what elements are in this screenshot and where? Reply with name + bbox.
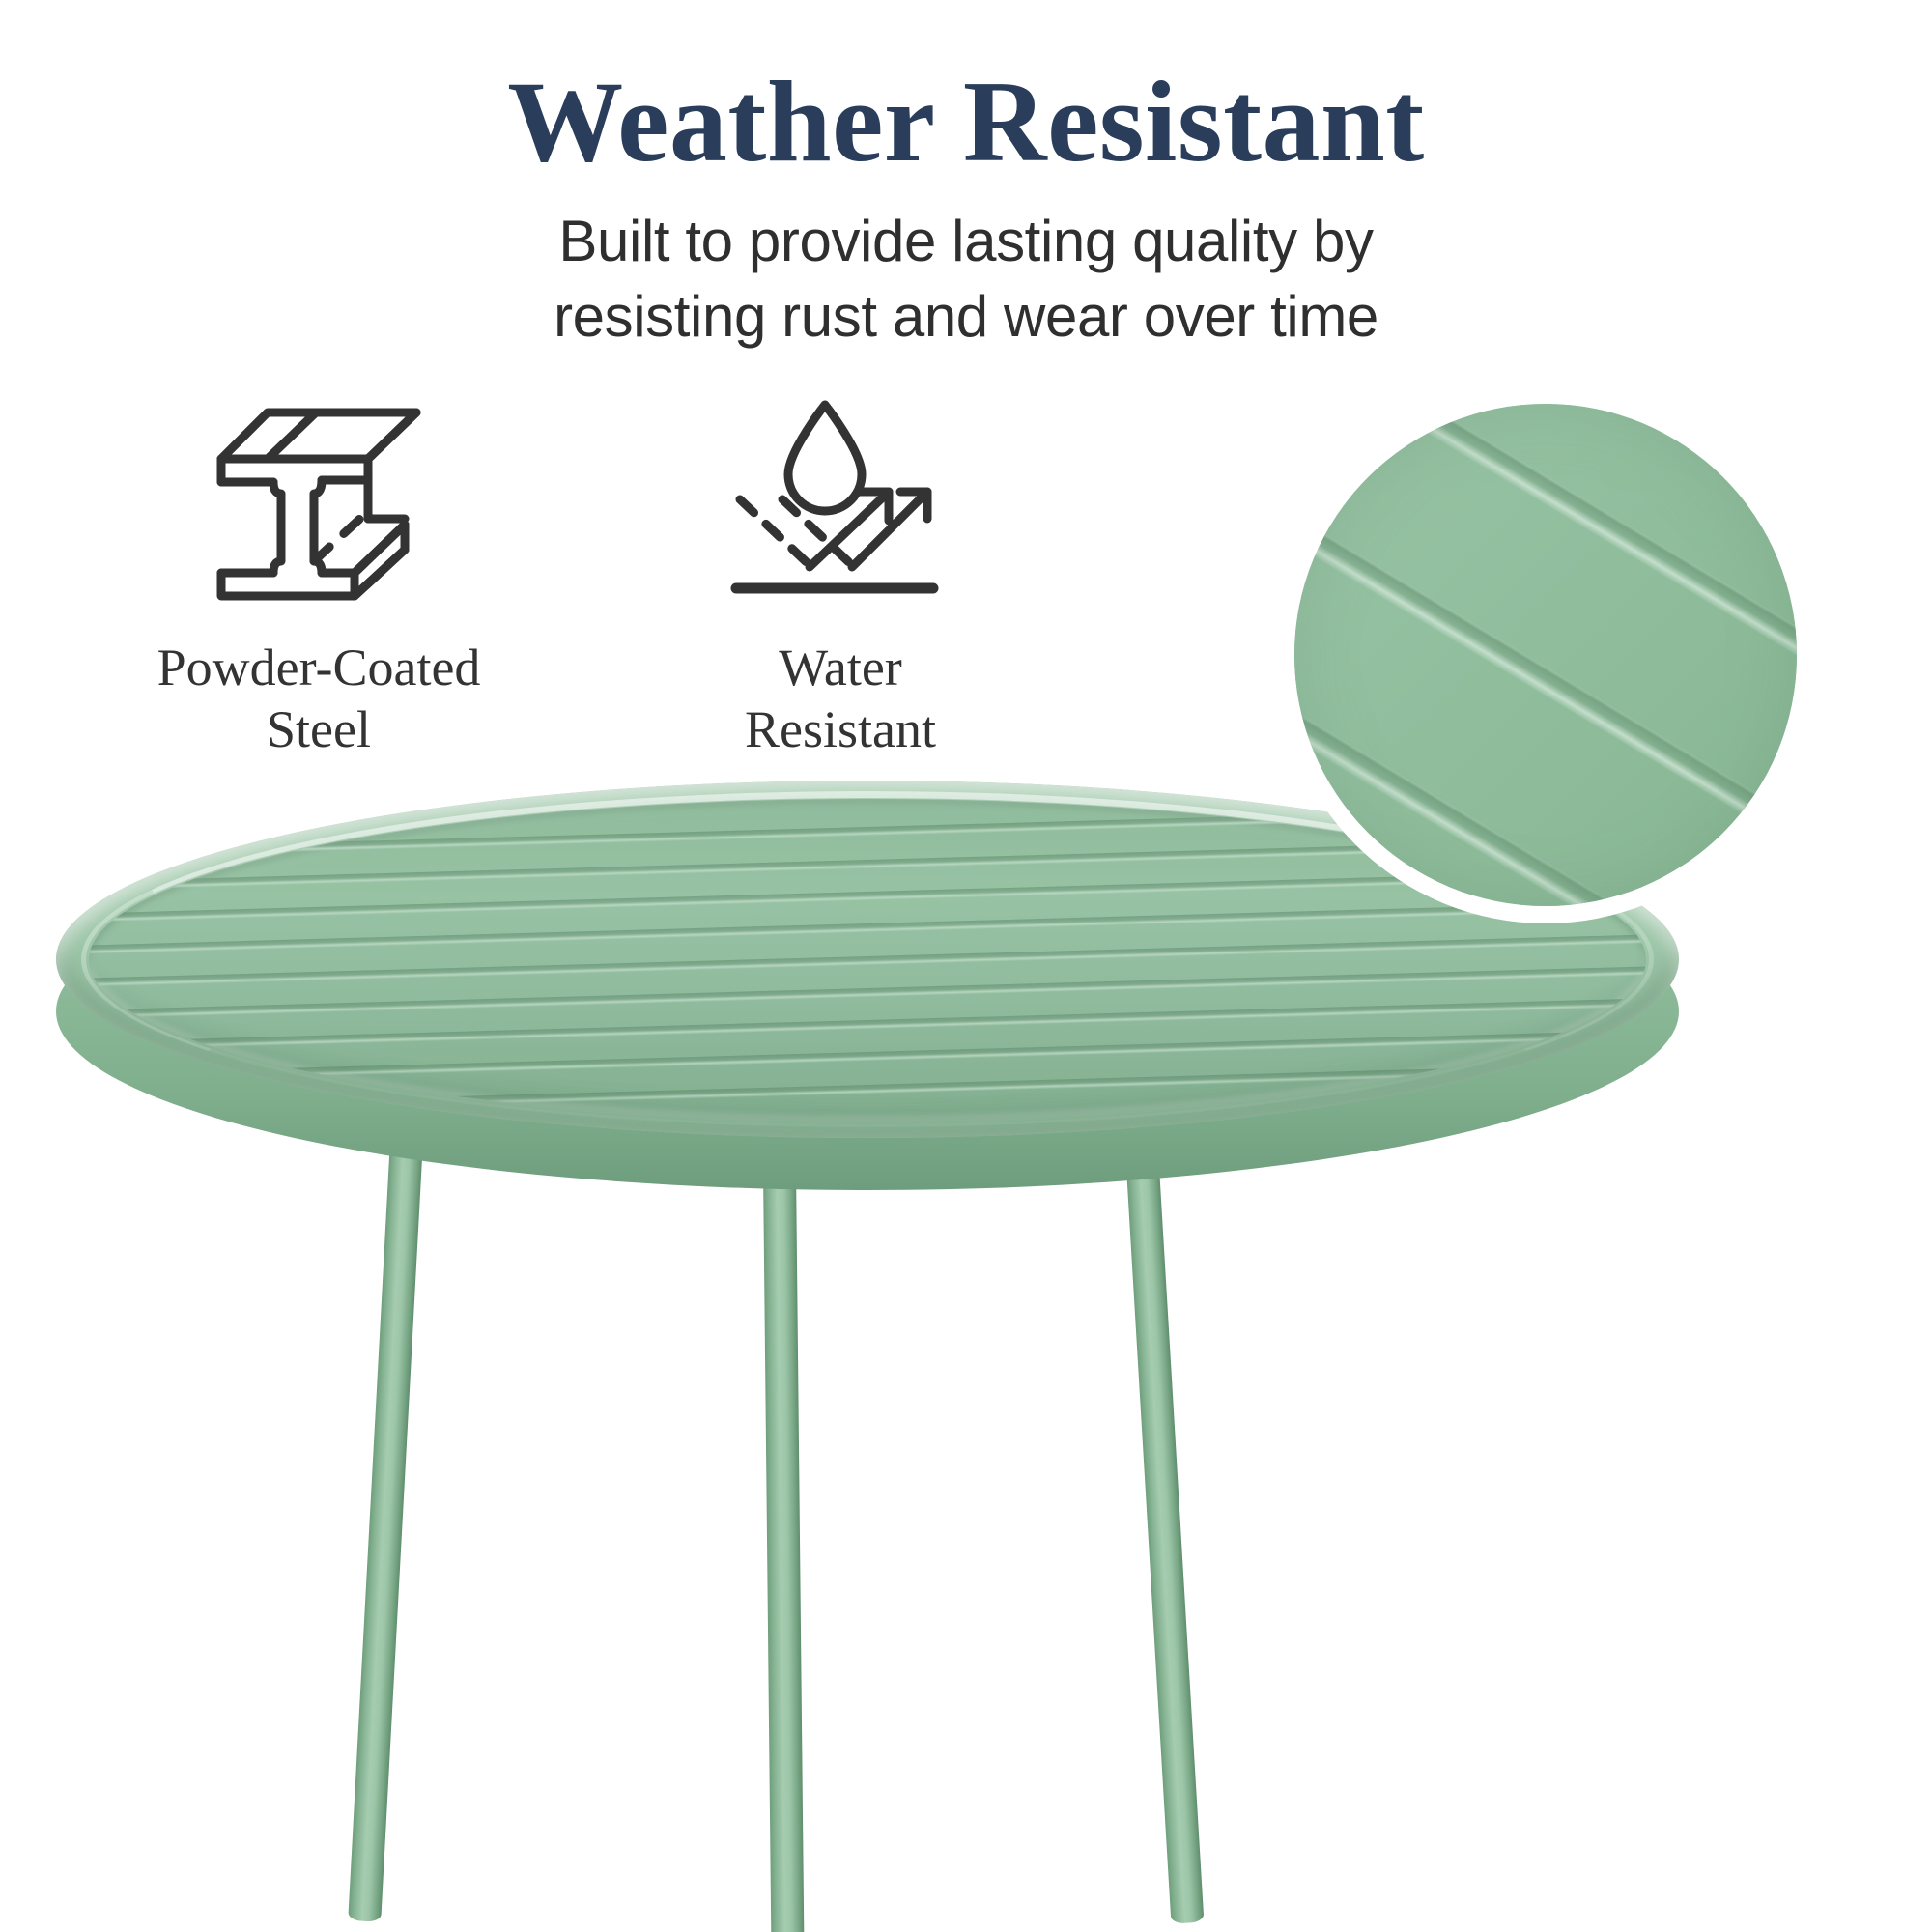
macro-disc (1294, 404, 1797, 906)
table-leg-left (348, 1139, 423, 1922)
feature-label-line-1: Powder-Coated (157, 638, 481, 699)
feature-item-powder-coated-steel: Powder-Coated Steel (58, 386, 580, 760)
water-repellent-icon (728, 386, 952, 618)
feature-list: Powder-Coated Steel (58, 386, 1101, 760)
feature-label-line-1: Water (745, 638, 936, 699)
surface-macro-closeup (1277, 386, 1814, 923)
table-leg-middle (763, 1169, 804, 1932)
i-beam-icon (208, 386, 430, 618)
page-title: Weather Resistant (0, 60, 1932, 183)
feature-item-water-resistant: Water Resistant (580, 386, 1101, 760)
page-subtitle: Built to provide lasting quality by resi… (449, 204, 1483, 355)
subtitle-line-2: resisting rust and wear over time (449, 279, 1483, 355)
header-block: Weather Resistant Built to provide lasti… (0, 60, 1932, 355)
subtitle-line-1: Built to provide lasting quality by (449, 204, 1483, 279)
table-leg-right (1125, 1151, 1204, 1924)
product-image (0, 734, 1932, 1932)
marketing-feature-card: Weather Resistant Built to provide lasti… (0, 0, 1932, 1932)
